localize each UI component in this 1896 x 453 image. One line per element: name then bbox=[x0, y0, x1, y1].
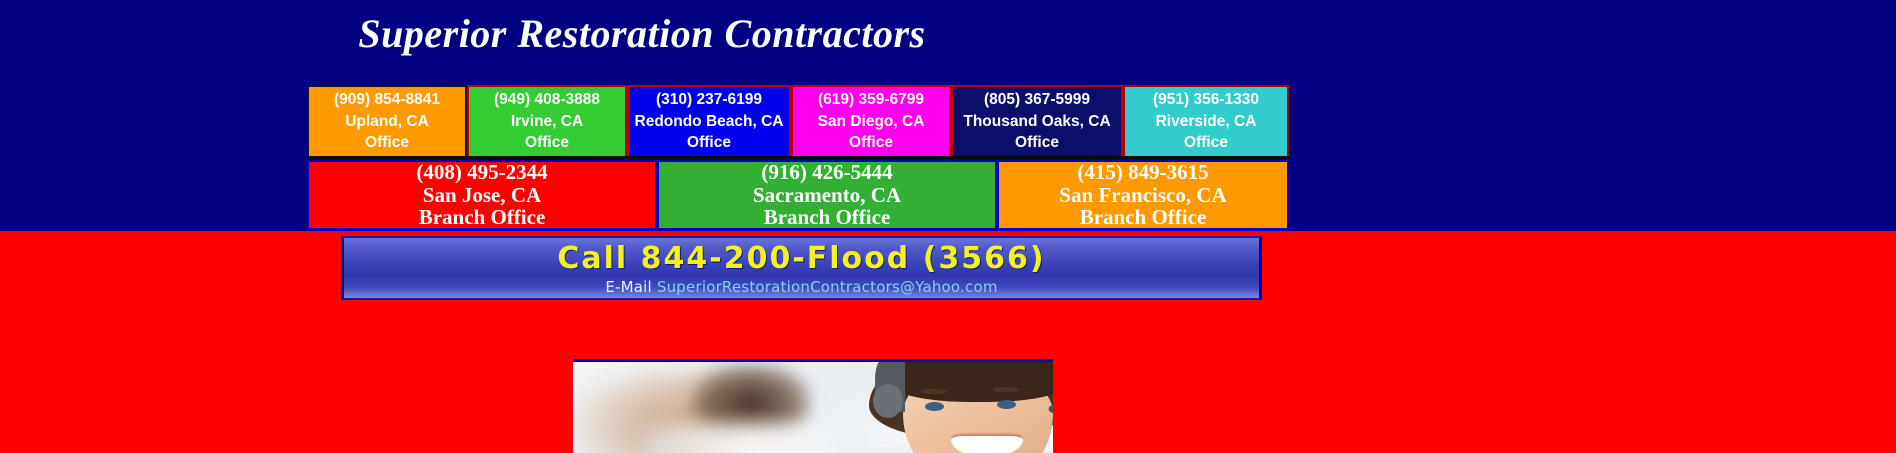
office-type: Office bbox=[1184, 132, 1228, 153]
photo-eye-left bbox=[925, 402, 944, 411]
office-city: Redondo Beach, CA bbox=[635, 111, 784, 132]
office-row-divider bbox=[307, 156, 1289, 159]
office-card-redondo-beach[interactable]: (310) 237-6199 Redondo Beach, CA Office bbox=[627, 85, 791, 158]
office-phone[interactable]: (909) 854-8841 bbox=[334, 89, 440, 110]
branch-city: San Jose, CA bbox=[423, 184, 541, 207]
office-phone[interactable]: (805) 367-5999 bbox=[984, 89, 1090, 110]
office-type: Office bbox=[365, 132, 409, 153]
branch-city: Sacramento, CA bbox=[753, 184, 901, 207]
branch-card-sacramento[interactable]: (916) 426-5444 Sacramento, CA Branch Off… bbox=[657, 160, 997, 230]
email-line[interactable]: E-Mail SuperiorRestorationContractors@Ya… bbox=[605, 278, 997, 296]
office-city: Thousand Oaks, CA bbox=[963, 111, 1110, 132]
office-card-san-diego[interactable]: (619) 359-6799 San Diego, CA Office bbox=[791, 85, 951, 158]
office-phone[interactable]: (949) 408-3888 bbox=[494, 89, 600, 110]
office-type: Office bbox=[687, 132, 731, 153]
office-phone[interactable]: (619) 359-6799 bbox=[818, 89, 924, 110]
title-bar: Superior Restoration Contractors bbox=[0, 0, 1896, 72]
call-phone-headline[interactable]: Call 844-200-Flood (3566) bbox=[557, 241, 1045, 276]
branch-type: Branch Office bbox=[1080, 206, 1207, 229]
customer-service-photo bbox=[573, 362, 1053, 453]
branch-card-san-jose[interactable]: (408) 495-2344 San Jose, CA Branch Offic… bbox=[307, 160, 657, 230]
branch-locations-row: (408) 495-2344 San Jose, CA Branch Offic… bbox=[307, 160, 1289, 230]
office-type: Office bbox=[525, 132, 569, 153]
photo-eyebrow-left bbox=[921, 389, 947, 394]
email-address[interactable]: SuperiorRestorationContractors@Yahoo.com bbox=[657, 278, 998, 296]
branch-city: San Francisco, CA bbox=[1059, 184, 1226, 207]
office-card-upland[interactable]: (909) 854-8841 Upland, CA Office bbox=[307, 85, 467, 158]
branch-phone[interactable]: (408) 495-2344 bbox=[416, 161, 547, 184]
branch-phone[interactable]: (415) 849-3615 bbox=[1077, 161, 1208, 184]
page-root: Superior Restoration Contractors (909) 8… bbox=[0, 0, 1896, 453]
office-city: Riverside, CA bbox=[1156, 111, 1257, 132]
office-locations-row: (909) 854-8841 Upland, CA Office (949) 4… bbox=[307, 85, 1289, 158]
office-city: Upland, CA bbox=[345, 111, 429, 132]
office-card-thousand-oaks[interactable]: (805) 367-5999 Thousand Oaks, CA Office bbox=[951, 85, 1123, 158]
office-card-irvine[interactable]: (949) 408-3888 Irvine, CA Office bbox=[467, 85, 627, 158]
page-title: Superior Restoration Contractors bbox=[0, 10, 1284, 57]
photo-blurred-shoulder bbox=[643, 422, 873, 453]
office-city: San Diego, CA bbox=[818, 111, 925, 132]
branch-type: Branch Office bbox=[764, 206, 891, 229]
office-phone[interactable]: (951) 356-1330 bbox=[1153, 89, 1259, 110]
photo-eye-right bbox=[997, 400, 1016, 409]
headset-earcup-icon bbox=[873, 384, 903, 418]
call-to-action-banner[interactable]: Call 844-200-Flood (3566) E-Mail Superio… bbox=[341, 236, 1262, 300]
branch-type: Branch Office bbox=[419, 206, 546, 229]
photo-inner bbox=[573, 362, 1053, 453]
office-city: Irvine, CA bbox=[511, 111, 583, 132]
email-label: E-Mail bbox=[605, 278, 652, 296]
photo-eyebrow-right bbox=[993, 387, 1019, 392]
photo-smile bbox=[951, 436, 1023, 453]
photo-person-fringe bbox=[891, 362, 1053, 402]
office-card-riverside[interactable]: (951) 356-1330 Riverside, CA Office bbox=[1123, 85, 1289, 158]
branch-phone[interactable]: (916) 426-5444 bbox=[761, 161, 892, 184]
office-type: Office bbox=[1015, 132, 1059, 153]
branch-card-san-francisco[interactable]: (415) 849-3615 San Francisco, CA Branch … bbox=[997, 160, 1289, 230]
office-type: Office bbox=[849, 132, 893, 153]
office-phone[interactable]: (310) 237-6199 bbox=[656, 89, 762, 110]
